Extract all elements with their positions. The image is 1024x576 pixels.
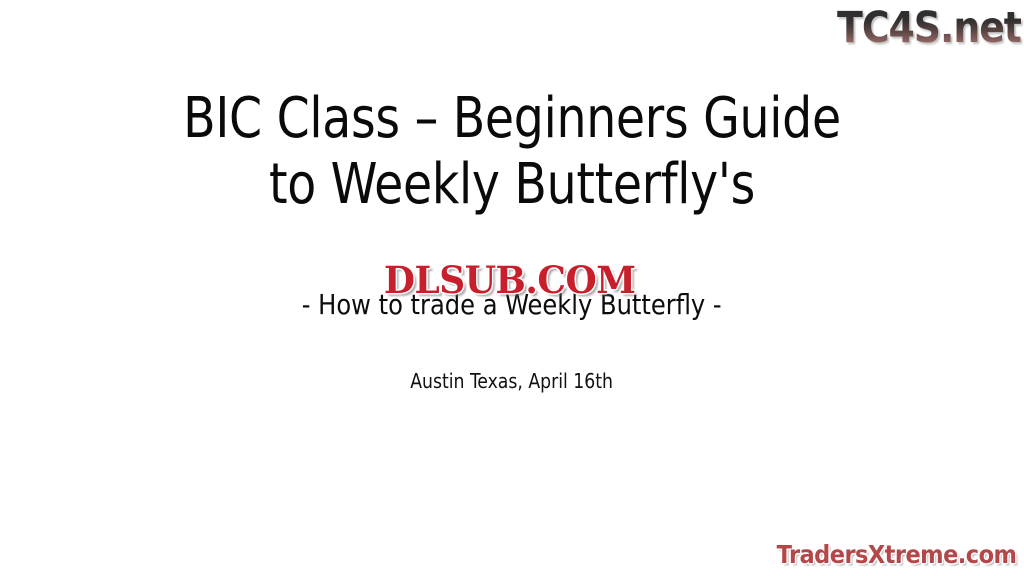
slide-event-line: Austin Texas, April 16th [0,369,1024,393]
slide-title-line-1: BIC Class – Beginners Guide [31,86,994,152]
slide-title: BIC Class – Beginners Guide to Weekly Bu… [0,86,1024,218]
tc4s-logo: TC4S.net [831,0,1021,56]
tc4s-logo-text: TC4S.net [837,5,1021,51]
slide-subtitle: - How to trade a Weekly Butterfly - [0,289,1024,321]
slide-subtitle-text: - How to trade a Weekly Butterfly - [302,289,722,321]
tradersxtreme-watermark: TradersXtreme.com [760,538,1016,572]
tradersxtreme-watermark-text: TradersXtreme.com [776,541,1016,569]
slide-title-line-2: to Weekly Butterfly's [31,152,994,218]
slide-event-line-text: Austin Texas, April 16th [411,369,614,393]
presentation-slide: TC4S.net BIC Class – Beginners Guide to … [0,0,1024,576]
